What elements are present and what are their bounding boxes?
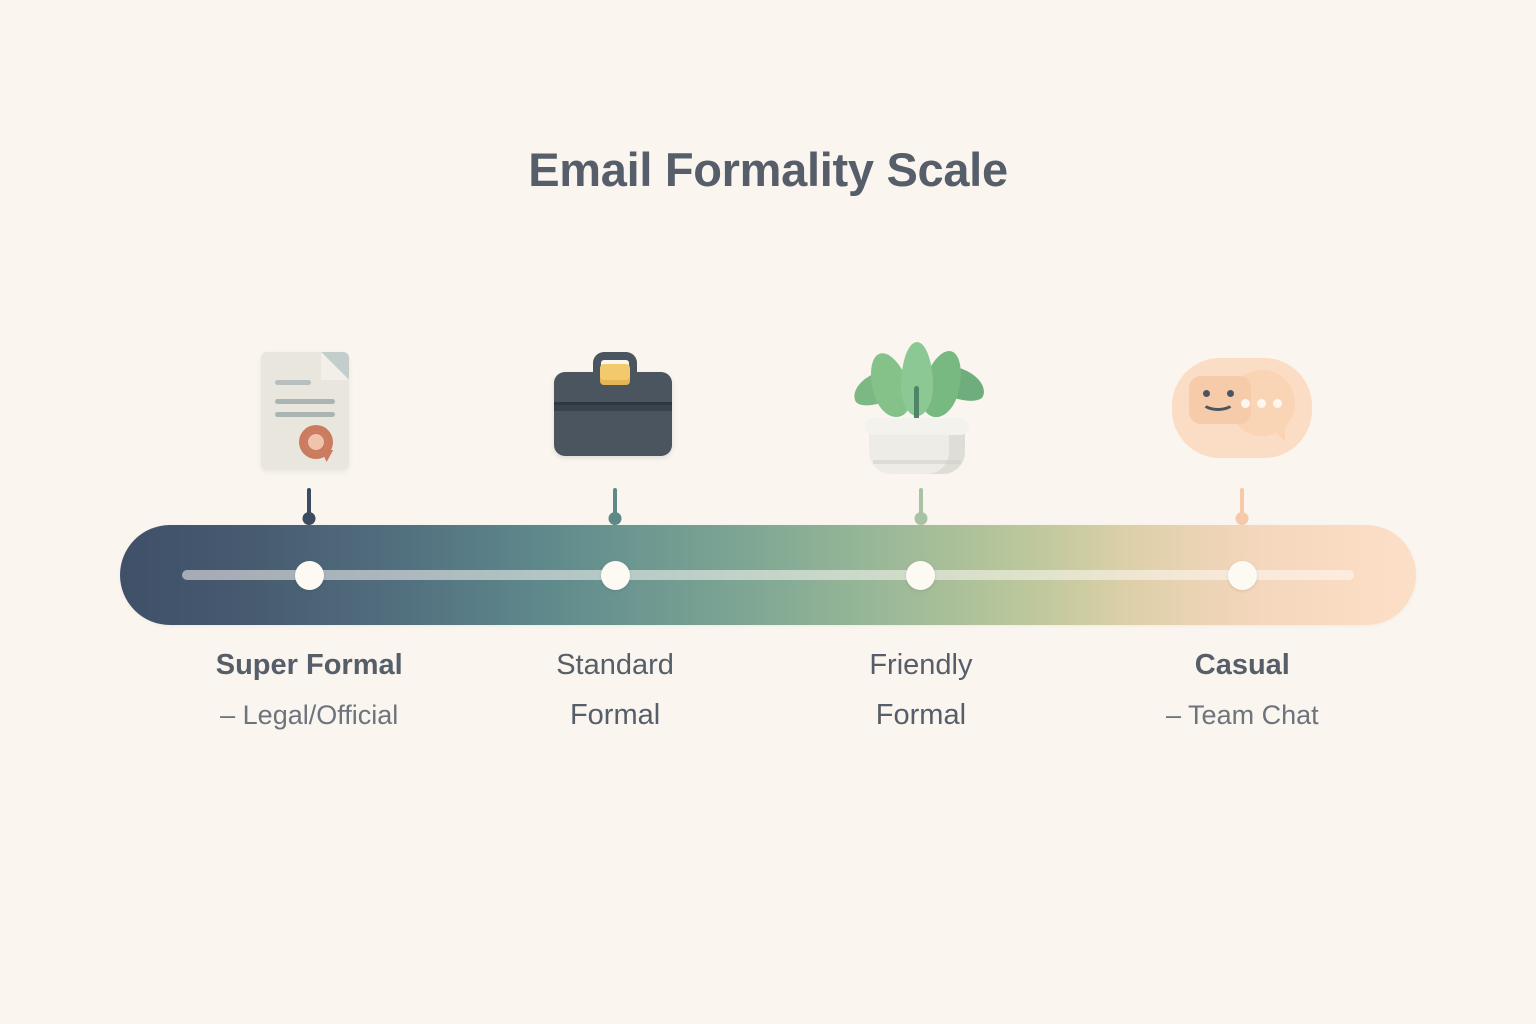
- plant-pot-rim: [865, 418, 969, 435]
- document-text-line: [275, 380, 311, 385]
- scale-label-friendly-formal: Friendly Formal: [771, 640, 1071, 740]
- label-primary: Super Formal: [159, 640, 459, 690]
- briefcase-icon: [540, 340, 690, 490]
- wax-seal-icon: [299, 425, 333, 459]
- formality-scale: Super Formal – Legal/Official Standard F…: [120, 340, 1416, 780]
- page-title: Email Formality Scale: [0, 142, 1536, 197]
- slider-knob-friendly-formal[interactable]: [906, 561, 935, 590]
- slider-knob-super-formal[interactable]: [295, 561, 324, 590]
- scale-label-super-formal: Super Formal – Legal/Official: [159, 640, 459, 740]
- labels-row: Super Formal – Legal/Official Standard F…: [120, 640, 1416, 770]
- label-secondary: – Team Chat: [1092, 690, 1392, 740]
- plant-pot-band: [873, 460, 961, 464]
- potted-plant-icon: [846, 340, 996, 490]
- slider-knob-casual[interactable]: [1228, 561, 1257, 590]
- scale-label-casual: Casual – Team Chat: [1092, 640, 1392, 740]
- scale-stop-standard-formal-icon-group[interactable]: [515, 340, 715, 530]
- connector-dot: [914, 512, 927, 525]
- slider-track[interactable]: [182, 570, 1354, 580]
- label-secondary: – Legal/Official: [159, 690, 459, 740]
- icons-row: [120, 340, 1416, 530]
- connector-dot: [303, 512, 316, 525]
- certificate-document-icon: [234, 340, 384, 490]
- document-sheet: [261, 352, 349, 470]
- scale-stop-friendly-formal-icon-group[interactable]: [821, 340, 1021, 530]
- chat-bubbles-icon: [1167, 340, 1317, 490]
- connector-dot: [609, 512, 622, 525]
- typing-dot: [1257, 399, 1266, 408]
- scale-stop-super-formal-icon-group[interactable]: [209, 340, 409, 530]
- label-primary: Standard Formal: [465, 640, 765, 740]
- formality-slider[interactable]: [120, 525, 1416, 625]
- typing-dot: [1241, 399, 1250, 408]
- typing-dot: [1273, 399, 1282, 408]
- label-primary: Friendly Formal: [771, 640, 1071, 740]
- document-text-line: [275, 399, 335, 404]
- slider-knob-standard-formal[interactable]: [601, 561, 630, 590]
- label-primary: Casual: [1092, 640, 1392, 690]
- scale-stop-casual-icon-group[interactable]: [1142, 340, 1342, 530]
- briefcase-clasp: [600, 364, 630, 385]
- connector-dot: [1236, 512, 1249, 525]
- document-text-line: [275, 412, 335, 417]
- scale-label-standard-formal: Standard Formal: [465, 640, 765, 740]
- briefcase-flap-line: [554, 402, 672, 405]
